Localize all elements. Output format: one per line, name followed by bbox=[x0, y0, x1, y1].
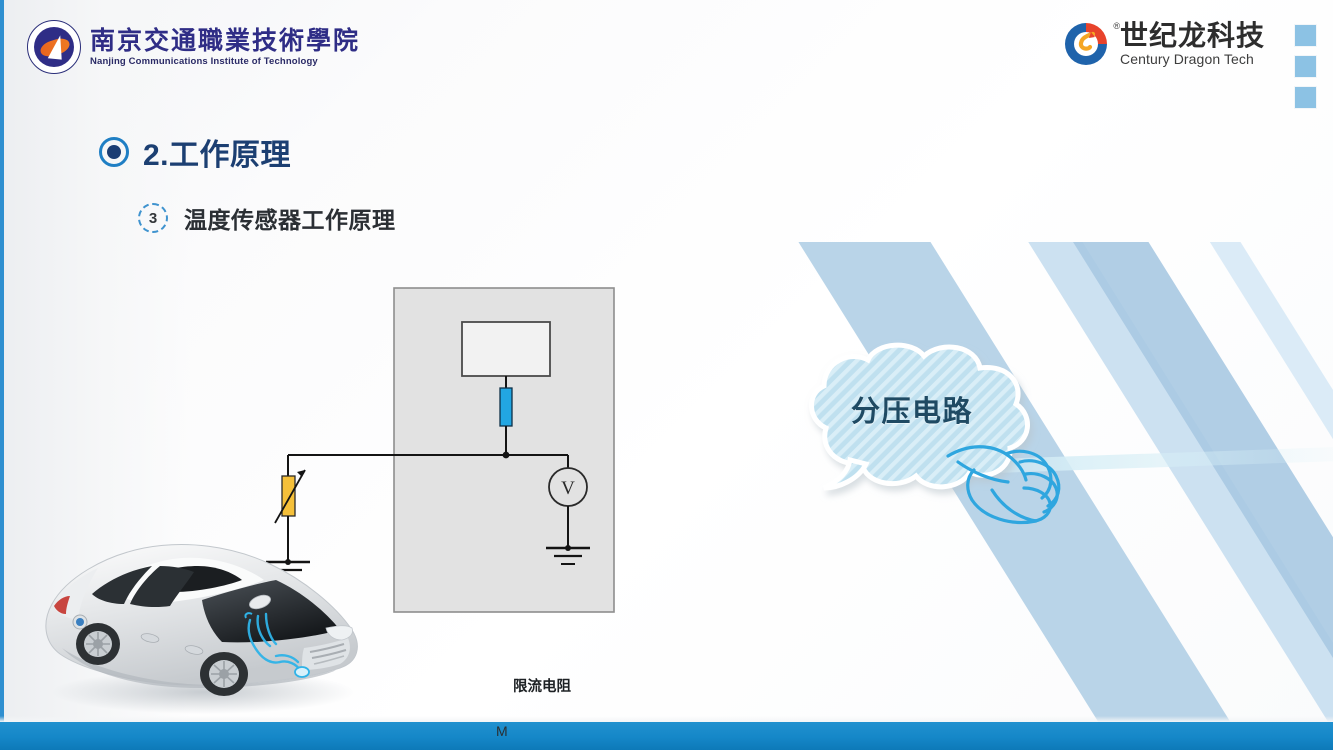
registered-mark: ® bbox=[1113, 21, 1120, 31]
step-number-label: 3 bbox=[149, 211, 157, 226]
section-title-row: 2.工作原理 bbox=[99, 130, 291, 174]
diagonal-stripe-3 bbox=[1057, 242, 1333, 722]
limiting-resistor-label: 限流电阻 bbox=[513, 675, 571, 696]
decor-square-2 bbox=[1294, 55, 1317, 78]
page-title: 2.工作原理 bbox=[143, 130, 291, 174]
callout-bubble: 分压电路 bbox=[762, 338, 1082, 528]
left-edge-accent-bar bbox=[0, 0, 4, 750]
step-title: 温度传感器工作原理 bbox=[184, 201, 396, 235]
company-name-en: Century Dragon Tech bbox=[1120, 51, 1265, 67]
company-logo: ® 世纪龙科技 Century Dragon Tech bbox=[1062, 20, 1265, 68]
svg-text:V: V bbox=[561, 478, 575, 499]
company-name-block: 世纪龙科技 Century Dragon Tech bbox=[1120, 21, 1265, 67]
diagonal-stripe-4 bbox=[1181, 242, 1333, 722]
bottom-accent-bar bbox=[0, 722, 1333, 750]
node-m-label: M bbox=[496, 723, 508, 739]
step-subtitle-row: 3 温度传感器工作原理 bbox=[138, 201, 396, 235]
bullseye-icon bbox=[99, 137, 129, 167]
header-decor-squares bbox=[1294, 24, 1317, 109]
century-dragon-logo-icon: ® bbox=[1062, 20, 1110, 68]
seal-sail-shape bbox=[48, 34, 64, 59]
slide-header: 南京交通職業技術學院 Nanjing Communications Instit… bbox=[0, 0, 1333, 96]
university-name-en: Nanjing Communications Institute of Tech… bbox=[90, 56, 360, 67]
step-number-badge: 3 bbox=[138, 203, 168, 233]
seal-inner-disc bbox=[34, 27, 74, 67]
car-illustration bbox=[18, 528, 390, 718]
decor-square-1 bbox=[1294, 24, 1317, 47]
university-seal-icon bbox=[27, 20, 81, 74]
university-logo: 南京交通職業技術學院 Nanjing Communications Instit… bbox=[27, 20, 360, 74]
company-name-cn: 世纪龙科技 bbox=[1120, 21, 1265, 50]
slide-root: 南京交通職業技術學院 Nanjing Communications Instit… bbox=[0, 0, 1333, 750]
university-name-cn: 南京交通職業技術學院 bbox=[90, 27, 360, 54]
university-name-block: 南京交通職業技術學院 Nanjing Communications Instit… bbox=[90, 27, 360, 67]
decor-square-3 bbox=[1294, 86, 1317, 109]
